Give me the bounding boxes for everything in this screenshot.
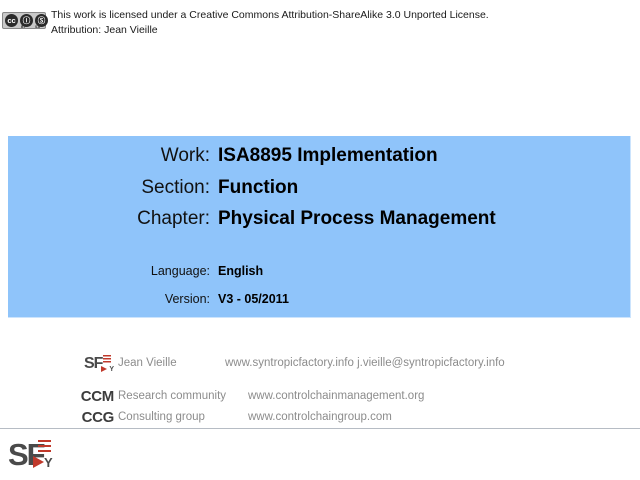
sf-description: Jean Vieille: [118, 357, 225, 369]
ccm-url[interactable]: www.controlchainmanagement.org: [248, 390, 424, 402]
version-label: Version:: [8, 292, 218, 306]
version-value: V3 - 05/2011: [218, 292, 289, 306]
syntropic-factory-brand-logo-icon: SF Y: [8, 438, 56, 474]
syntropic-factory-logo-icon: SF Y: [84, 354, 114, 373]
work-label: Work:: [8, 145, 218, 167]
creative-commons-badge: cc ⓘ Ⓢ BY SA: [2, 12, 46, 29]
cc-by-label: BY: [21, 25, 26, 29]
ccm-description: Research community: [118, 390, 248, 402]
field-row-version: Version: V3 - 05/2011: [8, 292, 631, 322]
sf-letters: SF: [84, 354, 102, 373]
chapter-label: Chapter:: [8, 208, 218, 230]
language-value: English: [218, 264, 263, 278]
sf-y-letter: Y: [109, 366, 114, 373]
license-line-2: Attribution: Jean Vieille: [51, 23, 611, 38]
ccg-url[interactable]: www.controlchaingroup.com: [248, 411, 392, 423]
brand-logo-zigzag-icon: [38, 440, 51, 455]
sf-triangle-icon: [101, 366, 107, 372]
footer-row-syntropic-factory: SF Y Jean Vieille www.syntropicfactory.i…: [0, 352, 640, 374]
cc-icon: cc: [5, 14, 18, 27]
section-value: Function: [218, 177, 298, 199]
ccg-logo-slot: CCG: [0, 409, 118, 426]
license-header: cc ⓘ Ⓢ BY SA This work is licensed under…: [0, 8, 640, 48]
ccm-logo-slot: CCM: [0, 388, 118, 405]
work-value: ISA8895 Implementation: [218, 145, 438, 167]
license-text: This work is licensed under a Creative C…: [51, 8, 611, 38]
sf-url[interactable]: www.syntropicfactory.info j.vieille@synt…: [225, 357, 505, 369]
field-row-section: Section: Function: [8, 177, 631, 207]
cc-sa-label: SA: [35, 25, 40, 29]
footer-divider: [0, 428, 640, 429]
section-label: Section:: [8, 177, 218, 199]
footer-row-ccm: CCM Research community www.controlchainm…: [0, 385, 640, 407]
license-line-1: This work is licensed under a Creative C…: [51, 8, 611, 23]
ccm-logo-icon: CCM: [81, 388, 114, 405]
field-row-language: Language: English: [8, 264, 631, 294]
sf-logo-slot: SF Y: [0, 354, 118, 373]
field-row-work: Work: ISA8895 Implementation: [8, 145, 631, 175]
footer-row-ccg: CCG Consulting group www.controlchaingro…: [0, 406, 640, 428]
chapter-value: Physical Process Management: [218, 208, 496, 230]
title-panel: Work: ISA8895 Implementation Section: Fu…: [8, 136, 631, 318]
brand-logo-triangle-icon: [33, 456, 44, 468]
ccg-logo-icon: CCG: [82, 409, 114, 426]
ccg-description: Consulting group: [118, 411, 248, 423]
sf-zigzag-icon: [103, 355, 111, 364]
language-label: Language:: [8, 264, 218, 278]
brand-logo-y-letter: Y: [44, 456, 53, 469]
field-row-chapter: Chapter: Physical Process Management: [8, 208, 631, 238]
